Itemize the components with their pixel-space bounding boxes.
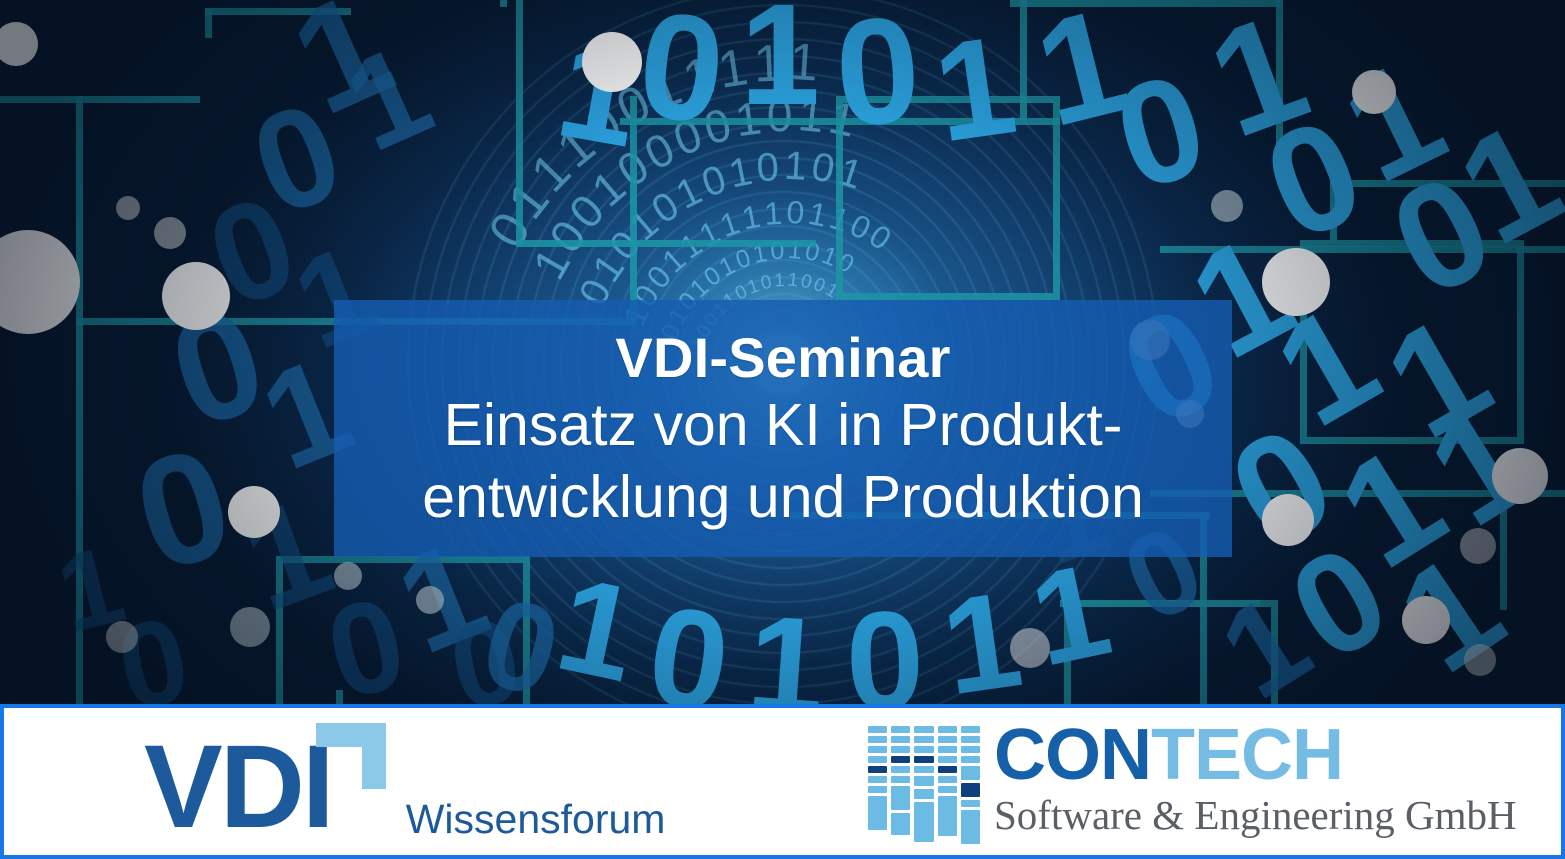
- contech-bar-cell: [961, 746, 980, 753]
- contech-bar-cell: [891, 776, 910, 783]
- contech-bar-cell: [938, 776, 957, 783]
- contech-bar-cell: [938, 766, 957, 773]
- contech-bar-cell: [868, 766, 887, 773]
- contech-bar-cell: [961, 810, 980, 844]
- contech-bar-cell: [868, 796, 887, 830]
- contech-bar-cell: [868, 746, 887, 753]
- seminar-label: VDI-Seminar: [615, 327, 950, 390]
- contech-bar-cell: [914, 789, 933, 799]
- contech-bar-cell: [868, 756, 887, 763]
- contech-bar-cell: [891, 813, 910, 835]
- contech-bar-cell: [891, 746, 910, 753]
- logo-bar: VDI Wissensforum CONTECH Software & Engi…: [0, 704, 1565, 859]
- contech-bar-chart-icon: [868, 726, 980, 852]
- contech-bar-cell: [914, 736, 933, 743]
- contech-bar-column: [891, 726, 910, 852]
- contech-subtitle: Software & Engineering GmbH: [994, 794, 1517, 837]
- contech-bar-cell: [938, 726, 957, 733]
- contech-bar-cell: [938, 796, 957, 836]
- contech-bar-cell: [961, 756, 980, 763]
- contech-bar-cell: [868, 726, 887, 733]
- seminar-title-line-2: entwicklung und Produktion: [422, 462, 1144, 534]
- contech-bar-cell: [891, 736, 910, 743]
- contech-name-part-2: TECH: [1151, 715, 1343, 795]
- contech-bar-cell: [961, 783, 980, 797]
- contech-bar-cell: [961, 800, 980, 807]
- contech-bar-cell: [914, 746, 933, 753]
- vdi-mark: VDI: [144, 728, 332, 846]
- title-overlay-box: VDI-Seminar Einsatz von KI in Produkt- e…: [334, 300, 1232, 557]
- contech-bar-cell: [891, 766, 910, 773]
- contech-bar-cell: [914, 726, 933, 733]
- contech-bar-cell: [868, 736, 887, 743]
- contech-logo: CONTECH Software & Engineering GmbH: [868, 722, 1517, 852]
- contech-bar-cell: [914, 766, 933, 773]
- contech-bar-cell: [938, 786, 957, 793]
- contech-bar-cell: [914, 776, 933, 786]
- contech-bar-cell: [961, 726, 980, 733]
- contech-lettering: CONTECH: [994, 722, 1517, 790]
- contech-bar-cell: [891, 786, 910, 810]
- contech-bar-cell: [891, 756, 910, 763]
- contech-bar-cell: [868, 786, 887, 793]
- contech-bar-column: [961, 726, 980, 852]
- vdi-lettering: VDI: [144, 721, 332, 853]
- contech-bar-cell: [868, 776, 887, 783]
- contech-name-part-1: CON: [994, 715, 1151, 795]
- vdi-wissensforum-logo: VDI Wissensforum: [144, 728, 665, 846]
- seminar-title-line-1: Einsatz von KI in Produkt-: [444, 390, 1123, 462]
- contech-bar-cell: [914, 756, 933, 763]
- contech-bar-cell: [961, 766, 980, 780]
- contech-bar-cell: [914, 802, 933, 842]
- contech-bar-column: [914, 726, 933, 852]
- contech-bar-cell: [938, 756, 957, 763]
- contech-text-block: CONTECH Software & Engineering GmbH: [994, 722, 1517, 837]
- contech-bar-column: [938, 726, 957, 852]
- vdi-corner-icon: [316, 723, 386, 789]
- contech-bar-cell: [938, 736, 957, 743]
- contech-bar-column: [868, 726, 887, 852]
- vdi-subtitle: Wissensforum: [406, 799, 666, 846]
- contech-bar-cell: [961, 736, 980, 743]
- contech-bar-cell: [938, 746, 957, 753]
- seminar-banner: 0111001111110010000101101010101010110011…: [0, 0, 1565, 859]
- contech-bar-cell: [891, 726, 910, 733]
